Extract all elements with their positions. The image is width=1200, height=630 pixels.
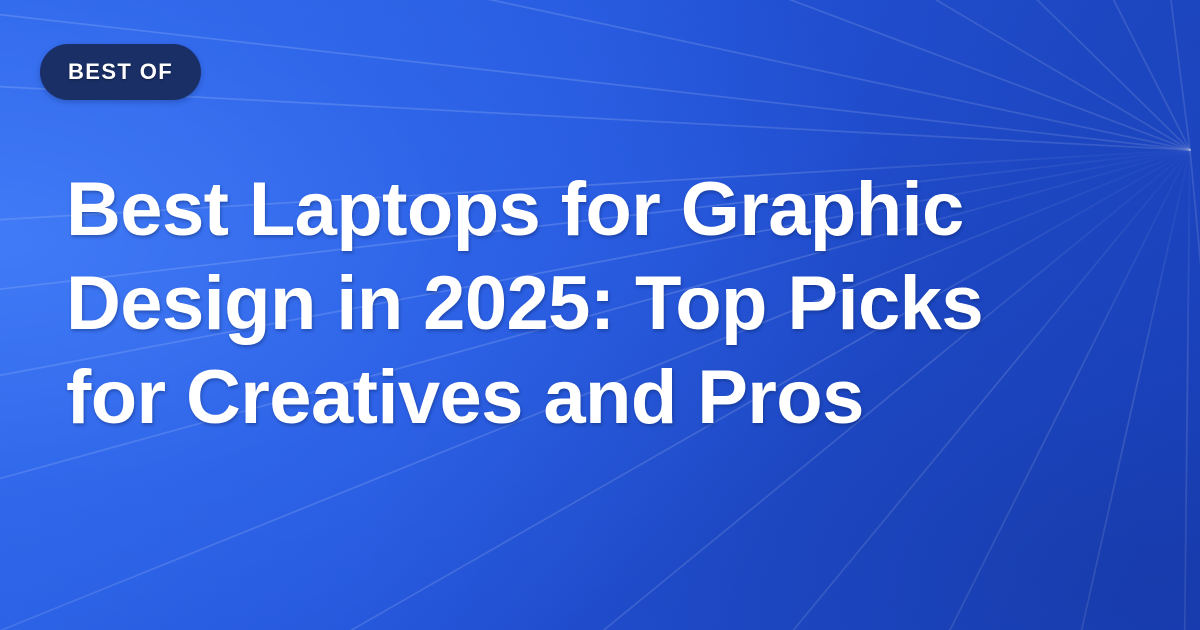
best-of-hero-card: BEST OF Best Laptops for Graphic Design … — [0, 0, 1200, 630]
page-title-line-3: for Creatives and Pros — [66, 351, 1141, 445]
page-title-line-2: Design in 2025: Top Picks — [66, 257, 1141, 351]
card-content: BEST OF Best Laptops for Graphic Design … — [0, 0, 1200, 630]
page-title: Best Laptops for Graphic Design in 2025:… — [66, 163, 1141, 445]
best-of-badge: BEST OF — [40, 44, 201, 100]
page-title-line-1: Best Laptops for Graphic — [66, 163, 1141, 257]
best-of-badge-label: BEST OF — [68, 61, 173, 83]
